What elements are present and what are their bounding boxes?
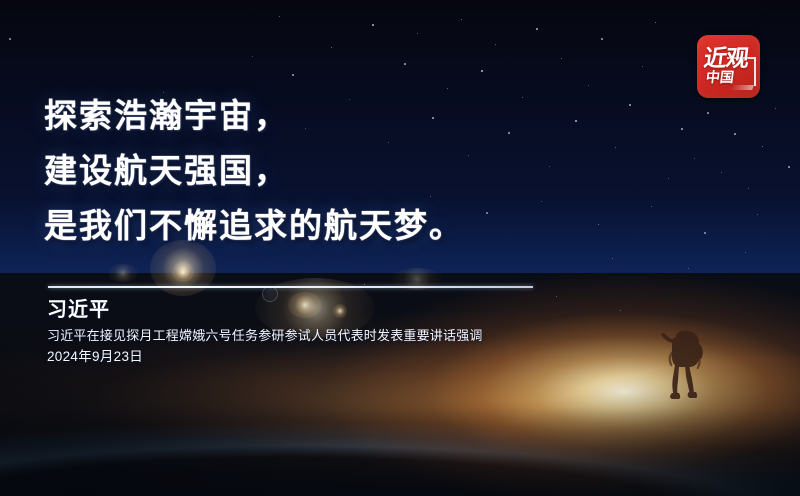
poster-canvas: 探索浩瀚宇宙， 建设航天强国， 是我们不懈追求的航天梦。 习近平 习近平在接见探… xyxy=(0,0,800,496)
astronaut-silhouette xyxy=(656,327,712,399)
divider-line xyxy=(48,286,533,288)
speech-caption: 习近平在接见探月工程嫦娥六号任务参研参试人员代表时发表重要讲话强调 xyxy=(47,326,667,345)
headline-line-1: 探索浩瀚宇宙， xyxy=(44,88,644,143)
logo-main-text: 近观 xyxy=(703,46,750,70)
headline-block: 探索浩瀚宇宙， 建设航天强国， 是我们不懈追求的航天梦。 xyxy=(44,88,644,253)
speech-date: 2024年9月23日 xyxy=(47,347,667,366)
headline-line-2: 建设航天强国， xyxy=(44,143,644,198)
attribution-block: 习近平 习近平在接见探月工程嫦娥六号任务参研参试人员代表时发表重要讲话强调 20… xyxy=(47,297,667,366)
brand-logo[interactable]: 近观 中国 xyxy=(697,35,760,98)
speaker-name: 习近平 xyxy=(47,297,667,323)
logo-tail-icon xyxy=(730,85,754,90)
logo-sub-text: 中国 xyxy=(705,69,735,85)
headline-line-3: 是我们不懈追求的航天梦。 xyxy=(44,198,644,253)
